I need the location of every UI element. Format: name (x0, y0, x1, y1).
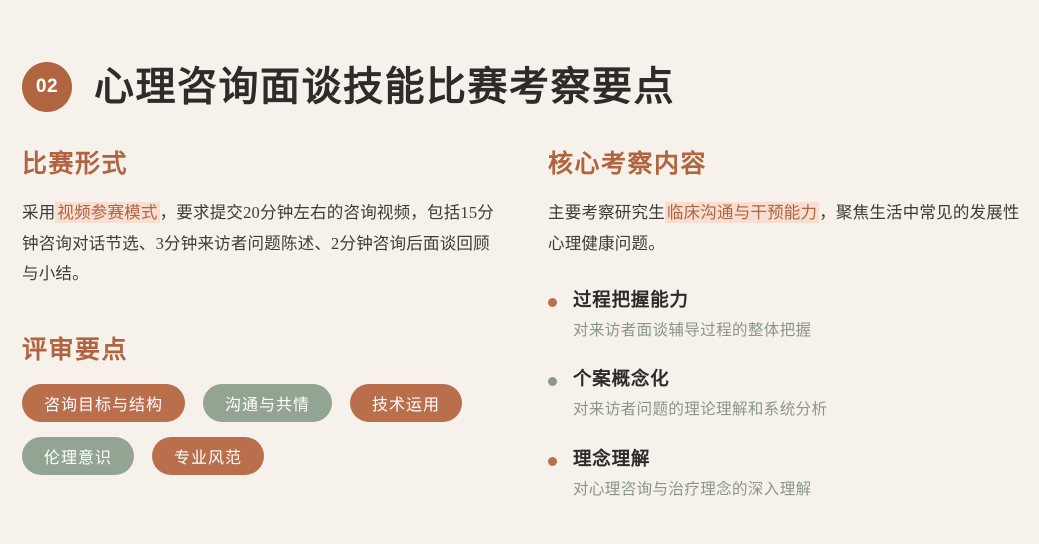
section-number-badge: 02 (22, 62, 72, 112)
bullet-item: 理念理解对心理咨询与治疗理念的深入理解 (548, 448, 1021, 501)
bullet-item: 过程把握能力对来访者面谈辅导过程的整体把握 (548, 289, 1021, 342)
left-column: 比赛形式 采用视频参赛模式，要求提交20分钟左右的咨询视频，包括15分钟咨询对话… (0, 150, 520, 501)
bullet-item: 个案概念化对来访者问题的理论理解和系统分析 (548, 368, 1021, 421)
format-highlight: 视频参赛模式 (55, 202, 159, 223)
content-columns: 比赛形式 采用视频参赛模式，要求提交20分钟左右的咨询视频，包括15分钟咨询对话… (0, 150, 1039, 501)
format-text-before: 采用 (22, 203, 55, 222)
bullet-dot-icon (548, 457, 557, 466)
slide-header: 02 心理咨询面谈技能比赛考察要点 (22, 62, 675, 112)
review-tag[interactable]: 沟通与共情 (203, 384, 332, 422)
core-content-heading: 核心考察内容 (548, 150, 1021, 180)
slide-root: 02 心理咨询面谈技能比赛考察要点 比赛形式 采用视频参赛模式，要求提交20分钟… (0, 0, 1039, 544)
core-bullet-list: 过程把握能力对来访者面谈辅导过程的整体把握个案概念化对来访者问题的理论理解和系统… (548, 289, 1021, 501)
bullet-dot-icon (548, 298, 557, 307)
core-highlight: 临床沟通与干预能力 (665, 202, 819, 223)
competition-format-section: 比赛形式 采用视频参赛模式，要求提交20分钟左右的咨询视频，包括15分钟咨询对话… (22, 150, 500, 290)
bullet-title: 个案概念化 (573, 368, 1021, 393)
page-title: 心理咨询面谈技能比赛考察要点 (94, 65, 675, 109)
bullet-body: 个案概念化对来访者问题的理论理解和系统分析 (573, 368, 1021, 421)
review-points-section: 评审要点 咨询目标与结构沟通与共情技术运用伦理意识专业风范 (22, 336, 500, 475)
review-tag[interactable]: 技术运用 (350, 384, 462, 422)
core-text-before: 主要考察研究生 (548, 203, 665, 222)
bullet-description: 对来访者问题的理论理解和系统分析 (573, 399, 1021, 421)
core-content-section: 核心考察内容 主要考察研究生临床沟通与干预能力，聚焦生活中常见的发展性心理健康问… (548, 150, 1021, 259)
bullet-description: 对心理咨询与治疗理念的深入理解 (573, 479, 1021, 501)
review-points-heading: 评审要点 (22, 336, 500, 366)
review-points-tag-group: 咨询目标与结构沟通与共情技术运用伦理意识专业风范 (22, 384, 492, 475)
competition-format-paragraph: 采用视频参赛模式，要求提交20分钟左右的咨询视频，包括15分钟咨询对话节选、3分… (22, 198, 500, 290)
competition-format-heading: 比赛形式 (22, 150, 500, 180)
bullet-body: 理念理解对心理咨询与治疗理念的深入理解 (573, 448, 1021, 501)
right-column: 核心考察内容 主要考察研究生临床沟通与干预能力，聚焦生活中常见的发展性心理健康问… (520, 150, 1039, 501)
bullet-title: 过程把握能力 (573, 289, 1021, 314)
bullet-description: 对来访者面谈辅导过程的整体把握 (573, 320, 1021, 342)
review-tag[interactable]: 伦理意识 (22, 437, 134, 475)
review-tag[interactable]: 专业风范 (152, 437, 264, 475)
review-tag[interactable]: 咨询目标与结构 (22, 384, 185, 422)
bullet-dot-icon (548, 377, 557, 386)
left-section-spacer (22, 290, 500, 336)
bullet-title: 理念理解 (573, 448, 1021, 473)
bullet-body: 过程把握能力对来访者面谈辅导过程的整体把握 (573, 289, 1021, 342)
core-content-paragraph: 主要考察研究生临床沟通与干预能力，聚焦生活中常见的发展性心理健康问题。 (548, 198, 1021, 259)
